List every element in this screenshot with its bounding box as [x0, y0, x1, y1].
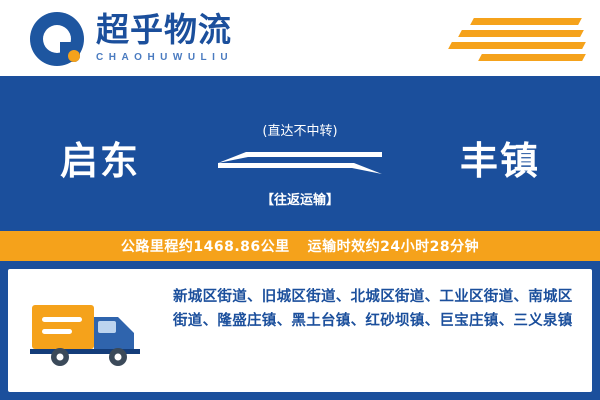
brand-name-en: CHAOHUWULIU	[96, 52, 326, 63]
brand-block: 超乎物流 CHAOHUWULIU	[96, 12, 326, 63]
delivery-truck-icon	[30, 291, 150, 371]
poster-header: 超乎物流 CHAOHUWULIU	[0, 0, 600, 76]
origin-city: 启东	[60, 130, 140, 185]
route-band: (直达不中转) 启东 丰镇 【往返运输】	[0, 76, 600, 231]
duration-text: 运输时效约24小时28分钟	[308, 236, 479, 256]
destination-city: 丰镇	[460, 130, 540, 185]
brand-name-cn: 超乎物流	[96, 12, 326, 48]
circle-q-logo-icon	[30, 12, 84, 66]
stats-bar: 公路里程约1468.86公里 运输时效约24小时28分钟	[0, 231, 600, 261]
coverage-section: 新城区街道、旧城区街道、北城区街道、工业区街道、南城区街道、隆盛庄镇、黑土台镇、…	[0, 261, 600, 400]
double-arrow-icon	[218, 150, 382, 180]
stripe-2	[458, 30, 584, 37]
stripe-4	[478, 54, 586, 61]
logo-dot	[68, 50, 80, 62]
stripe-1	[470, 18, 582, 25]
stripe-3	[448, 42, 586, 49]
roundtrip-note: 【往返运输】	[0, 189, 600, 208]
speed-stripes-icon	[434, 18, 584, 60]
coverage-card: 新城区街道、旧城区街道、北城区街道、工业区街道、南城区街道、隆盛庄镇、黑土台镇、…	[8, 269, 592, 392]
logistics-route-poster: 超乎物流 CHAOHUWULIU (直达不中转) 启东 丰镇 【往返运输】 公路…	[0, 0, 600, 400]
coverage-area-list: 新城区街道、旧城区街道、北城区街道、工业区街道、南城区街道、隆盛庄镇、黑土台镇、…	[173, 285, 573, 333]
distance-text: 公路里程约1468.86公里	[121, 236, 290, 256]
